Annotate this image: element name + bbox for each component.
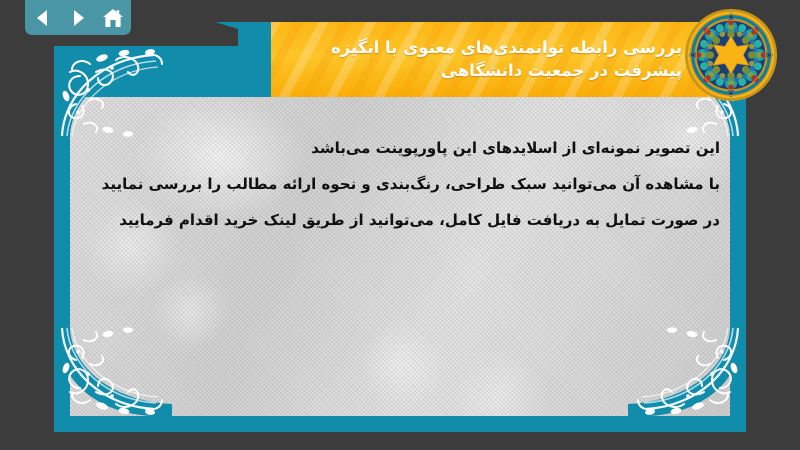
presentation-slide: بررسی رابطه توانمندی‌های معنوی با انگیزه… (0, 0, 800, 450)
slide-body-text: این تصویر نمونه‌ای از اسلایدهای این پاور… (80, 130, 720, 238)
slide-title-line-1: بررسی رابطه توانمندی‌های معنوی با انگیزه (331, 37, 682, 60)
slide-body-line-3: در صورت تمایل به دریافت فایل کامل، می‌تو… (80, 202, 720, 238)
mandala-medallion-ornament (684, 8, 778, 102)
slide-title-line-2: پیشرفت در جمعیت دانشگاهی (441, 60, 682, 83)
back-arrow-icon[interactable] (32, 7, 54, 29)
slide-body-line-2: با مشاهده آن می‌توانید سبک طراحی، رنگ‌بن… (80, 166, 720, 202)
forward-arrow-icon[interactable] (67, 7, 89, 29)
slide-navigation-bar[interactable] (25, 0, 131, 35)
slide-body-line-1: این تصویر نمونه‌ای از اسلایدهای این پاور… (80, 130, 720, 166)
home-icon[interactable] (102, 7, 124, 29)
slide-title-banner: بررسی رابطه توانمندی‌های معنوی با انگیزه… (271, 22, 746, 97)
